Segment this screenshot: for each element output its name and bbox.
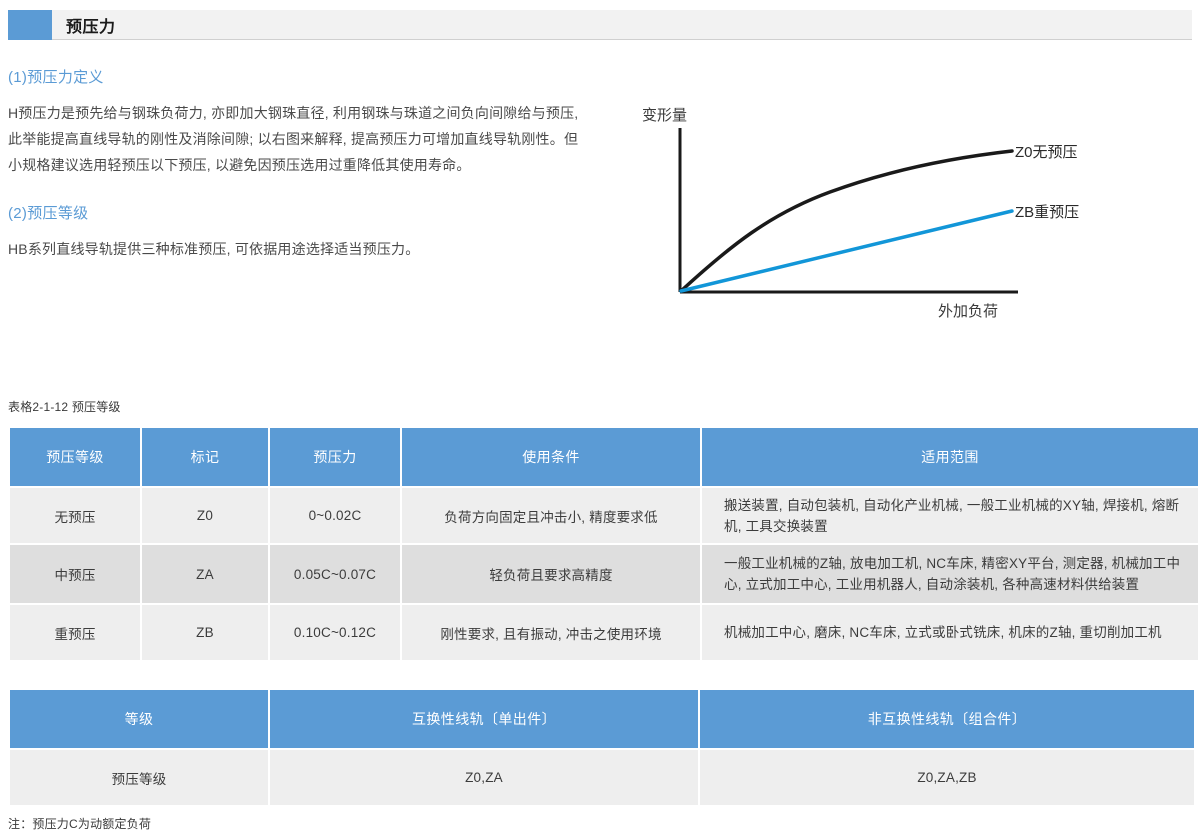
th-non-interchangeable-rail: 非互换性线轨〔组合件〕 — [700, 690, 1194, 748]
cell-application: 搬送装置, 自动包装机, 自动化产业机械, 一般工业机械的XY轴, 焊接机, 熔… — [702, 488, 1198, 543]
series-line-zb — [681, 211, 1012, 291]
table-header-row: 预压等级 标记 预压力 使用条件 适用范围 — [10, 428, 1198, 486]
subheading-preload-definition: (1)预压力定义 — [8, 66, 588, 87]
table-row: 预压等级 Z0,ZA Z0,ZA,ZB — [10, 750, 1194, 805]
cell-level-label: 预压等级 — [10, 750, 268, 805]
footnote: 注：预压力C为动额定负荷 — [8, 815, 151, 832]
cell-condition: 轻负荷且要求高精度 — [402, 545, 700, 603]
th-level: 等级 — [10, 690, 268, 748]
th-force: 预压力 — [270, 428, 400, 486]
paragraph-preload-definition: H预压力是预先给与钢珠负荷力, 亦即加大钢珠直径, 利用钢珠与珠道之间负向间隙给… — [8, 100, 588, 178]
document-page: 预压力 (1)预压力定义 H预压力是预先给与钢珠负荷力, 亦即加大钢珠直径, 利… — [0, 0, 1200, 837]
chart-series-label-zb: ZB重预压 — [1015, 201, 1079, 222]
table-preload-grades: 预压等级 标记 预压力 使用条件 适用范围 无预压 Z0 0~0.02C 负荷方… — [8, 426, 1200, 662]
table-row: 中预压 ZA 0.05C~0.07C 轻负荷且要求高精度 一般工业机械的Z轴, … — [10, 545, 1198, 603]
cell-force: 0~0.02C — [270, 488, 400, 543]
section-header: 预压力 — [8, 10, 1192, 40]
cell-mark: ZB — [142, 605, 268, 660]
table-rail-interchangeability: 等级 互换性线轨〔单出件〕 非互换性线轨〔组合件〕 预压等级 Z0,ZA Z0,… — [8, 688, 1196, 807]
chart-x-axis-label: 外加负荷 — [938, 300, 998, 321]
cell-condition: 负荷方向固定且冲击小, 精度要求低 — [402, 488, 700, 543]
cell-application: 一般工业机械的Z轴, 放电加工机, NC车床, 精密XY平台, 测定器, 机械加… — [702, 545, 1198, 603]
spacer — [8, 178, 588, 202]
accent-swatch — [8, 10, 52, 40]
cell-condition: 刚性要求, 且有振动, 冲击之使用环境 — [402, 605, 700, 660]
cell-force: 0.05C~0.07C — [270, 545, 400, 603]
cell-mark: ZA — [142, 545, 268, 603]
page-title: 预压力 — [52, 13, 116, 37]
th-application: 适用范围 — [702, 428, 1198, 486]
th-grade: 预压等级 — [10, 428, 140, 486]
cell-grade: 中预压 — [10, 545, 140, 603]
section-header-bar: 预压力 — [52, 10, 1192, 40]
cell-non-interchangeable-value: Z0,ZA,ZB — [700, 750, 1194, 805]
chart-svg — [620, 96, 1180, 336]
subheading-preload-grades: (2)预压等级 — [8, 202, 588, 223]
cell-grade: 重预压 — [10, 605, 140, 660]
table-caption: 表格2-1-12 预压等级 — [8, 398, 121, 415]
cell-force: 0.10C~0.12C — [270, 605, 400, 660]
paragraph-preload-grades: HB系列直线导轨提供三种标准预压, 可依据用途选择适当预压力。 — [8, 236, 588, 262]
cell-application: 机械加工中心, 磨床, NC车床, 立式或卧式铣床, 机床的Z轴, 重切削加工机 — [702, 605, 1198, 660]
table-row: 重预压 ZB 0.10C~0.12C 刚性要求, 且有振动, 冲击之使用环境 机… — [10, 605, 1198, 660]
cell-interchangeable-value: Z0,ZA — [270, 750, 698, 805]
series-curve-z0 — [681, 151, 1012, 291]
cell-grade: 无预压 — [10, 488, 140, 543]
th-interchangeable-rail: 互换性线轨〔单出件〕 — [270, 690, 698, 748]
left-text-column: (1)预压力定义 H预压力是预先给与钢珠负荷力, 亦即加大钢珠直径, 利用钢珠与… — [8, 66, 588, 262]
preload-deformation-chart: 变形量 外加负荷 Z0无预压 ZB重预压 — [620, 96, 1180, 336]
chart-series-label-z0: Z0无预压 — [1015, 141, 1078, 162]
table-row: 无预压 Z0 0~0.02C 负荷方向固定且冲击小, 精度要求低 搬送装置, 自… — [10, 488, 1198, 543]
th-mark: 标记 — [142, 428, 268, 486]
th-condition: 使用条件 — [402, 428, 700, 486]
cell-mark: Z0 — [142, 488, 268, 543]
table-header-row: 等级 互换性线轨〔单出件〕 非互换性线轨〔组合件〕 — [10, 690, 1194, 748]
chart-y-axis-label: 变形量 — [642, 104, 687, 125]
